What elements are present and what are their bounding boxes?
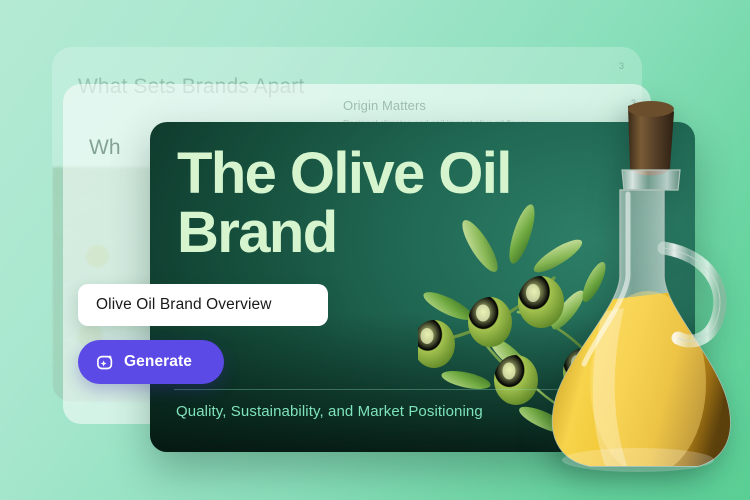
slide-title: The Olive Oil Brand: [177, 144, 597, 262]
app-canvas: What Sets Brands Apart 3 Origin Matters …: [0, 0, 750, 500]
background-slide-title-2: Origin Matters: [343, 98, 426, 113]
slide-divider: [174, 389, 666, 390]
background-slide-partial-title: Wh: [89, 136, 121, 160]
page-number-badge-1: 3: [619, 61, 624, 71]
prompt-input[interactable]: Olive Oil Brand Overview: [78, 284, 328, 326]
slide-subtitle: Quality, Sustainability, and Market Posi…: [176, 403, 483, 420]
generate-button-label: Generate: [124, 353, 192, 371]
generate-button[interactable]: Generate: [78, 340, 224, 384]
prompt-input-value: Olive Oil Brand Overview: [96, 296, 272, 314]
sparkle-icon: [96, 353, 115, 372]
page-number-badge-2: 3: [631, 98, 636, 108]
